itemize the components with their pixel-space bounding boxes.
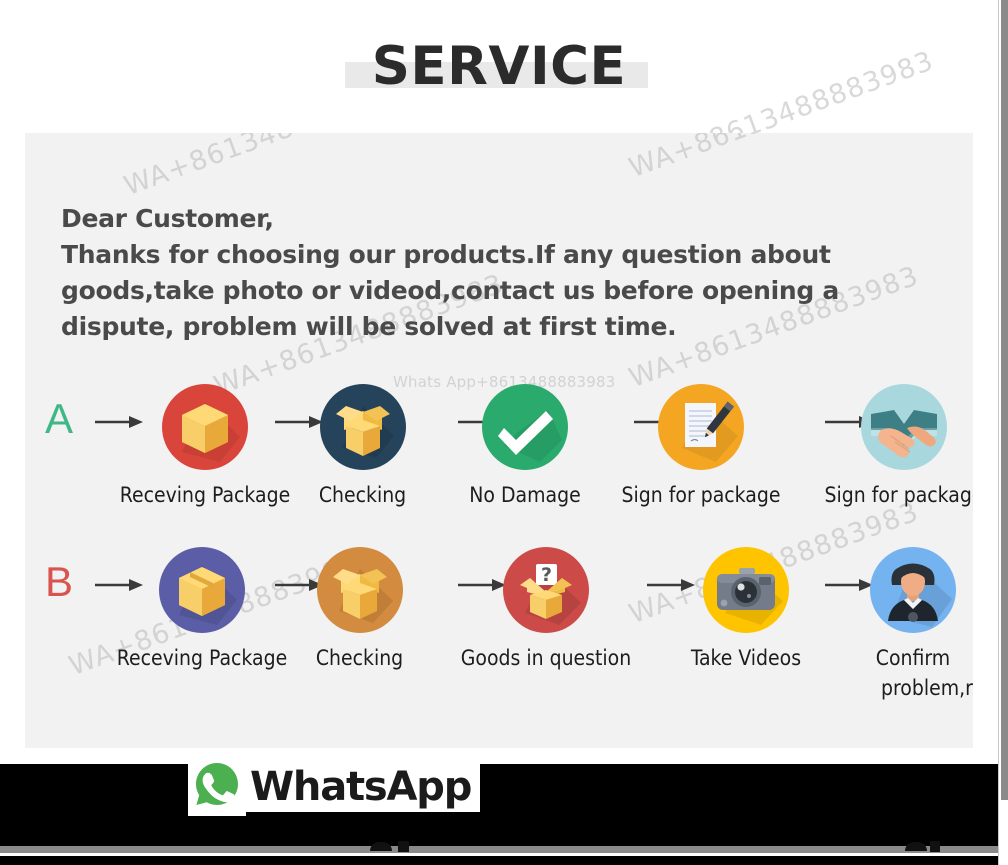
whatsapp-wordmark: WhatsApp (250, 767, 471, 807)
flow-step-b-4: Take Videos (655, 547, 837, 670)
svg-text:?: ? (541, 564, 552, 586)
flow-step-b-5: Confirm problem,refund (825, 547, 973, 700)
flow-step-label: Goods in question (451, 646, 641, 670)
page-title: SERVICE (0, 36, 998, 97)
open-box-icon (317, 547, 403, 633)
flow-step-a-5: Sign for package (809, 384, 973, 507)
footer-nub-icon (930, 841, 940, 852)
flow-step-b-2: Checking (284, 547, 435, 670)
support-agent-icon (870, 547, 956, 633)
flow-step-label: Sign for package (809, 483, 973, 507)
greeting-block: Dear Customer, Thanks for choosing our p… (61, 201, 901, 345)
flow-step-label: Confirm (825, 646, 973, 670)
footer-nub-icon (370, 842, 392, 851)
page-title-wrap: SERVICE (0, 36, 998, 97)
document-pen-icon (658, 384, 744, 470)
footer-underline (0, 846, 998, 853)
flow-step-label: No Damage (434, 483, 616, 507)
flow-badge-b: B (33, 545, 85, 619)
footer-nub-icon (905, 842, 927, 851)
greeting-line-4: dispute, problem will be solved at first… (61, 309, 901, 345)
handshake-icon (861, 384, 947, 470)
footer-band (0, 764, 998, 852)
flow-step-a-3: No Damage (434, 384, 616, 507)
greeting-line-2: Thanks for choosing our products.If any … (61, 237, 901, 273)
watermark-phone: WA+8613488883983 (625, 133, 923, 184)
scrollbar-thumb[interactable] (1001, 0, 1008, 800)
flow-step-label: Receving Package (111, 646, 293, 670)
watermark-phone: WA+8613488883983 (120, 133, 418, 202)
greeting-line-1: Dear Customer, (61, 201, 901, 237)
flow-step-label-secondary: problem,refund (825, 676, 973, 700)
whatsapp-wordmark-bg: WhatsApp (246, 763, 480, 812)
flow-step-label: Take Videos (655, 646, 837, 670)
whatsapp-icon[interactable] (188, 758, 246, 816)
flow-step-label: Receving Package (114, 483, 296, 507)
page-scrollbar[interactable] (998, 0, 1008, 865)
content-panel: WA+8613488883983 WA+8613488883983 WA+861… (25, 133, 973, 748)
flow-step-a-1: Receving Package (114, 384, 296, 507)
flow-step-label: Checking (284, 646, 435, 670)
flow-step-b-1: Receving Package (111, 547, 293, 670)
question-box-icon: ? (503, 547, 589, 633)
flow-step-label: Sign for package (606, 483, 796, 507)
open-box-icon (320, 384, 406, 470)
whatsapp-lockup[interactable]: WhatsApp (188, 758, 480, 816)
flow-step-a-2: Checking (287, 384, 438, 507)
flow-step-b-3: ? Goods in question (451, 547, 641, 670)
footer-bottom-edge (0, 856, 998, 865)
flow-step-a-4: Sign for package (606, 384, 796, 507)
checkmark-icon (482, 384, 568, 470)
footer-nub-icon (398, 841, 409, 852)
service-infographic-page: WA+8613488883983 SERVICE WA+861348888398… (0, 0, 1008, 865)
camera-icon (703, 547, 789, 633)
flow-badge-a: A (33, 382, 85, 456)
closed-box-icon (159, 547, 245, 633)
greeting-line-3: goods,take photo or videod,contact us be… (61, 273, 901, 309)
closed-box-icon (162, 384, 248, 470)
flow-step-label: Checking (287, 483, 438, 507)
